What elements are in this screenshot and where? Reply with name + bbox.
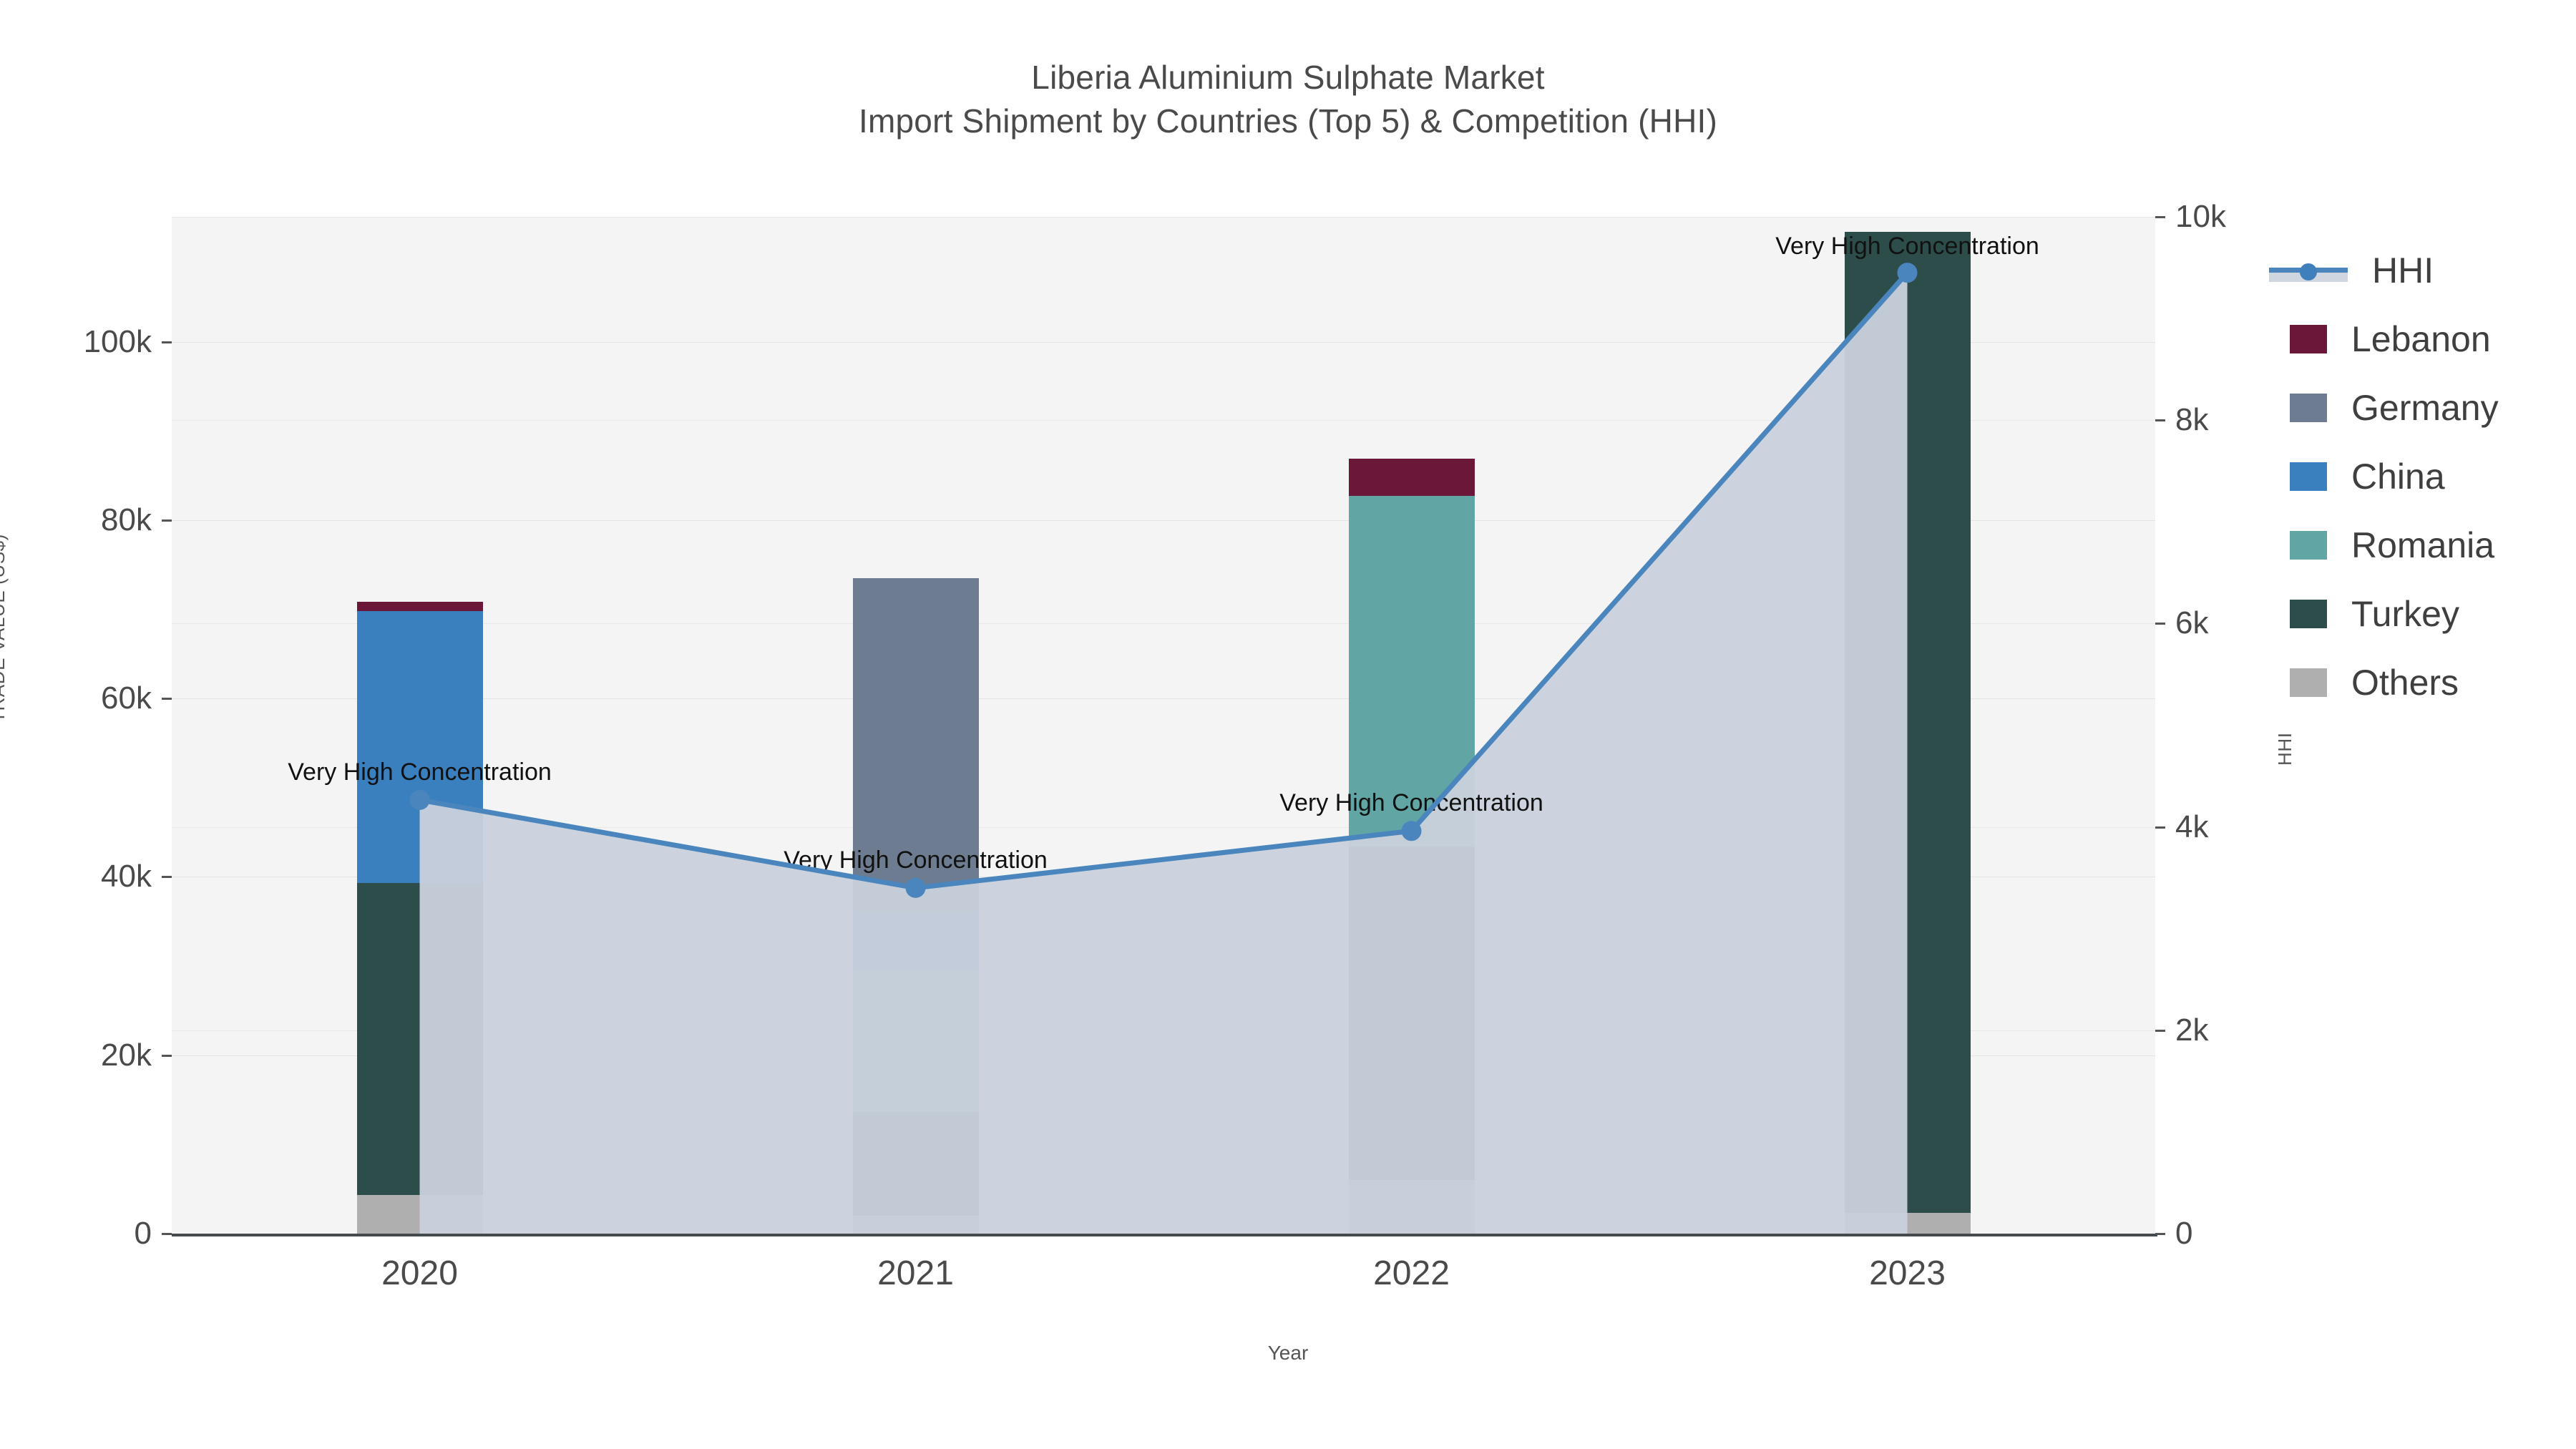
bar-segment-romania-2021 <box>853 970 979 1112</box>
x-axis-tick-label-2022: 2022 <box>1373 1254 1450 1293</box>
y2-axis-title: HHI <box>2274 732 2296 766</box>
y2-axis-tick-mark <box>2155 419 2165 421</box>
legend-label: Lebanon <box>2351 318 2491 360</box>
legend-swatch-china <box>2290 462 2327 491</box>
legend-swatch-germany <box>2290 394 2327 422</box>
bar-segment-turkey-2022 <box>1349 847 1475 1180</box>
y2-axis-tick-mark <box>2155 826 2165 829</box>
bar-segment-lebanon-2022 <box>1349 459 1475 496</box>
y2-axis-tick-label: 2k <box>2175 1013 2208 1048</box>
y-axis-tick-mark <box>162 1055 172 1057</box>
y-axis-tick-label: 0 <box>23 1216 152 1252</box>
y-axis-tick-mark <box>162 876 172 878</box>
x-axis-line <box>172 1234 2157 1236</box>
legend-swatch-romania <box>2290 531 2327 560</box>
legend-item-lebanon[interactable]: Lebanon <box>2290 305 2499 374</box>
y-axis-tick-label: 60k <box>23 680 152 716</box>
legend-line-icon <box>2269 256 2348 285</box>
y2-axis-tick-label: 10k <box>2175 199 2226 235</box>
y2-axis-tick-label: 8k <box>2175 402 2208 438</box>
x-axis-tick-label-2020: 2020 <box>381 1254 458 1293</box>
y-axis-tick-label: 20k <box>23 1038 152 1073</box>
y-axis-tick-label: 40k <box>23 859 152 894</box>
bar-segment-others-2022 <box>1349 1180 1475 1234</box>
gridline <box>172 217 2155 218</box>
legend-label: Germany <box>2351 387 2499 429</box>
y2-axis-tick-mark <box>2155 216 2165 218</box>
chart-root: Liberia Aluminium Sulphate Market Import… <box>0 0 2576 1449</box>
plot-area <box>172 217 2155 1234</box>
chart-legend: HHILebanonGermanyChinaRomaniaTurkeyOther… <box>2290 236 2499 717</box>
hhi-annotation-2022: Very High Concentration <box>1279 789 1543 817</box>
legend-label: China <box>2351 456 2445 497</box>
y-axis-title: TRADE VALUE (US$) <box>0 534 9 723</box>
legend-label: HHI <box>2372 250 2434 291</box>
legend-swatch-others <box>2290 668 2327 697</box>
legend-item-hhi[interactable]: HHI <box>2290 236 2499 305</box>
page-title: Liberia Aluminium Sulphate Market <box>0 56 2576 99</box>
y-axis-tick-label: 100k <box>23 324 152 360</box>
hhi-annotation-2020: Very High Concentration <box>288 758 552 786</box>
bar-segment-lebanon-2020 <box>357 602 483 610</box>
bar-segment-others-2020 <box>357 1195 483 1234</box>
y2-axis-tick-mark <box>2155 623 2165 625</box>
hhi-annotation-2021: Very High Concentration <box>784 847 1048 874</box>
legend-label: Romania <box>2351 525 2494 566</box>
x-axis-tick-label-2021: 2021 <box>877 1254 954 1293</box>
legend-item-china[interactable]: China <box>2290 442 2499 511</box>
bar-segment-turkey-2023 <box>1845 232 1971 1213</box>
legend-item-germany[interactable]: Germany <box>2290 374 2499 442</box>
y2-axis-tick-label: 0 <box>2175 1216 2192 1252</box>
hhi-annotation-2023: Very High Concentration <box>1775 233 2039 260</box>
bar-segment-turkey-2021 <box>853 1112 979 1216</box>
legend-item-turkey[interactable]: Turkey <box>2290 580 2499 648</box>
bar-segment-others-2023 <box>1845 1213 1971 1234</box>
legend-swatch-lebanon <box>2290 325 2327 353</box>
legend-label: Others <box>2351 662 2459 703</box>
y2-axis-tick-label: 6k <box>2175 605 2208 641</box>
y-axis-tick-mark <box>162 698 172 700</box>
y-axis-tick-mark <box>162 341 172 343</box>
y2-axis-tick-mark <box>2155 1030 2165 1032</box>
y-axis-tick-label: 80k <box>23 502 152 538</box>
x-axis-title: Year <box>0 1342 2576 1365</box>
legend-label: Turkey <box>2351 593 2459 635</box>
legend-item-others[interactable]: Others <box>2290 648 2499 717</box>
bar-segment-china-2021 <box>853 912 979 970</box>
bar-segment-others-2021 <box>853 1216 979 1234</box>
chart-subtitle: Import Shipment by Countries (Top 5) & C… <box>0 99 2576 143</box>
y-axis-tick-mark <box>162 519 172 522</box>
bar-segment-turkey-2020 <box>357 883 483 1195</box>
bar-segment-china-2020 <box>357 611 483 883</box>
y2-axis-tick-mark <box>2155 1233 2165 1235</box>
legend-item-romania[interactable]: Romania <box>2290 511 2499 580</box>
legend-swatch-turkey <box>2290 600 2327 628</box>
y-axis-tick-mark <box>162 1233 172 1235</box>
chart-title-block: Liberia Aluminium Sulphate Market Import… <box>0 56 2576 142</box>
x-axis-tick-label-2023: 2023 <box>1869 1254 1946 1293</box>
y2-axis-tick-label: 4k <box>2175 809 2208 845</box>
